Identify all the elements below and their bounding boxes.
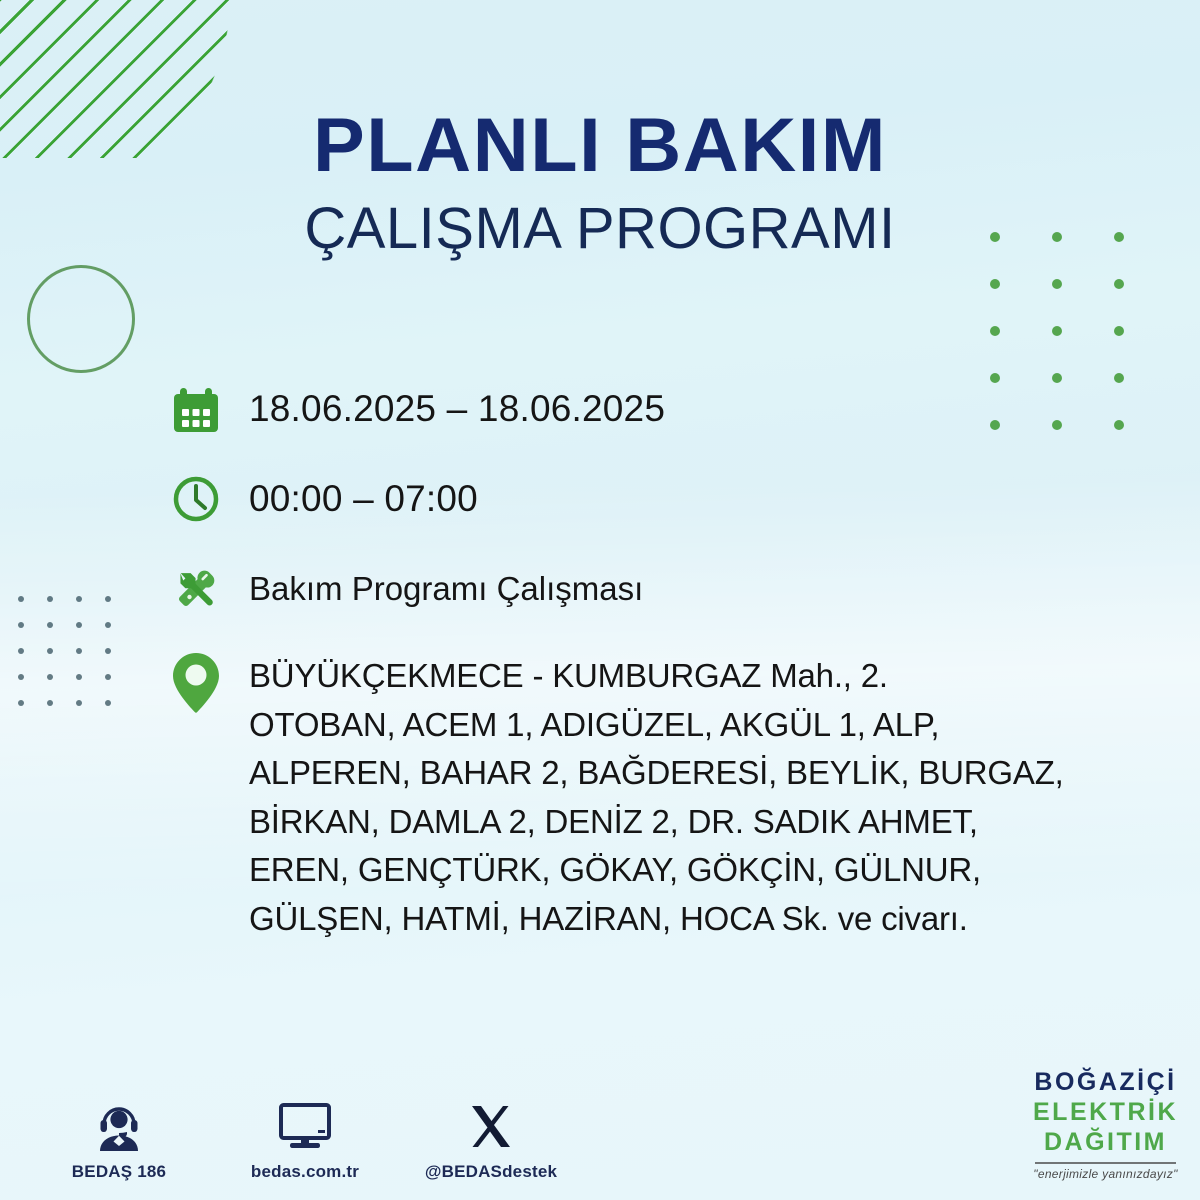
clock-icon bbox=[165, 468, 227, 530]
poster-header: PLANLI BAKIM ÇALIŞMA PROGRAMI bbox=[0, 108, 1200, 258]
date-range-value: 18.06.2025 – 18.06.2025 bbox=[227, 378, 1145, 440]
logo-line-elektrik: ELEKTRİK bbox=[1033, 1100, 1178, 1125]
map-pin-icon bbox=[165, 648, 227, 714]
monitor-icon bbox=[238, 1096, 372, 1152]
location-line: BİRKAN, DAMLA 2, DENİZ 2, DR. SADIK AHME… bbox=[249, 798, 1145, 847]
contact-social-x-label: @BEDASdestek bbox=[424, 1162, 558, 1182]
time-range-value: 00:00 – 07:00 bbox=[227, 468, 1145, 530]
bedas-logo: BOĞAZİÇİ ELEKTRİK DAĞITIM "enerjimizle y… bbox=[1033, 1070, 1178, 1180]
location-line: BÜYÜKÇEKMECE - KUMBURGAZ Mah., 2. bbox=[249, 652, 1145, 701]
detail-row-location: BÜYÜKÇEKMECE - KUMBURGAZ Mah., 2. OTOBAN… bbox=[165, 648, 1145, 943]
detail-row-work-type: Bakım Programı Çalışması bbox=[165, 558, 1145, 620]
contact-website-label: bedas.com.tr bbox=[238, 1162, 372, 1182]
logo-line-bogazici: BOĞAZİÇİ bbox=[1033, 1070, 1178, 1095]
location-line: GÜLŞEN, HATMİ, HAZİRAN, HOCA Sk. ve civa… bbox=[249, 895, 1145, 944]
contact-phone-label: BEDAŞ 186 bbox=[52, 1162, 186, 1182]
page-subtitle: ÇALIŞMA PROGRAMI bbox=[0, 200, 1200, 258]
detail-row-date: 18.06.2025 – 18.06.2025 bbox=[165, 378, 1145, 440]
footer-contacts: BEDAŞ 186 bedas.com.tr @BEDASdestek bbox=[52, 1096, 558, 1182]
contact-phone[interactable]: BEDAŞ 186 bbox=[52, 1096, 186, 1182]
location-line: OTOBAN, ACEM 1, ADIGÜZEL, AKGÜL 1, ALP, bbox=[249, 701, 1145, 750]
tools-icon bbox=[165, 558, 227, 620]
location-line: ALPEREN, BAHAR 2, BAĞDERESİ, BEYLİK, BUR… bbox=[249, 749, 1145, 798]
headset-support-icon bbox=[52, 1096, 186, 1152]
maintenance-details: 18.06.2025 – 18.06.2025 00:00 – 07:00 bbox=[165, 378, 1145, 943]
contact-social-x[interactable]: @BEDASdestek bbox=[424, 1096, 558, 1182]
x-twitter-icon bbox=[424, 1096, 558, 1152]
page-title: PLANLI BAKIM bbox=[0, 108, 1200, 184]
work-type-value: Bakım Programı Çalışması bbox=[227, 558, 1145, 620]
calendar-icon bbox=[165, 378, 227, 440]
location-line: EREN, GENÇTÜRK, GÖKAY, GÖKÇİN, GÜLNUR, bbox=[249, 846, 1145, 895]
dot-grid-left-decoration bbox=[18, 596, 134, 726]
logo-divider bbox=[1035, 1162, 1176, 1164]
location-value: BÜYÜKÇEKMECE - KUMBURGAZ Mah., 2. OTOBAN… bbox=[227, 648, 1145, 943]
circle-outline-decoration bbox=[27, 265, 135, 373]
planned-maintenance-poster: PLANLI BAKIM ÇALIŞMA PROGRAMI 18.06.2025… bbox=[0, 0, 1200, 1200]
logo-tagline: "enerjimizle yanınızdayız" bbox=[1033, 1168, 1178, 1180]
logo-line-dagitim: DAĞITIM bbox=[1033, 1130, 1178, 1155]
contact-website[interactable]: bedas.com.tr bbox=[238, 1096, 372, 1182]
detail-row-time: 00:00 – 07:00 bbox=[165, 468, 1145, 530]
